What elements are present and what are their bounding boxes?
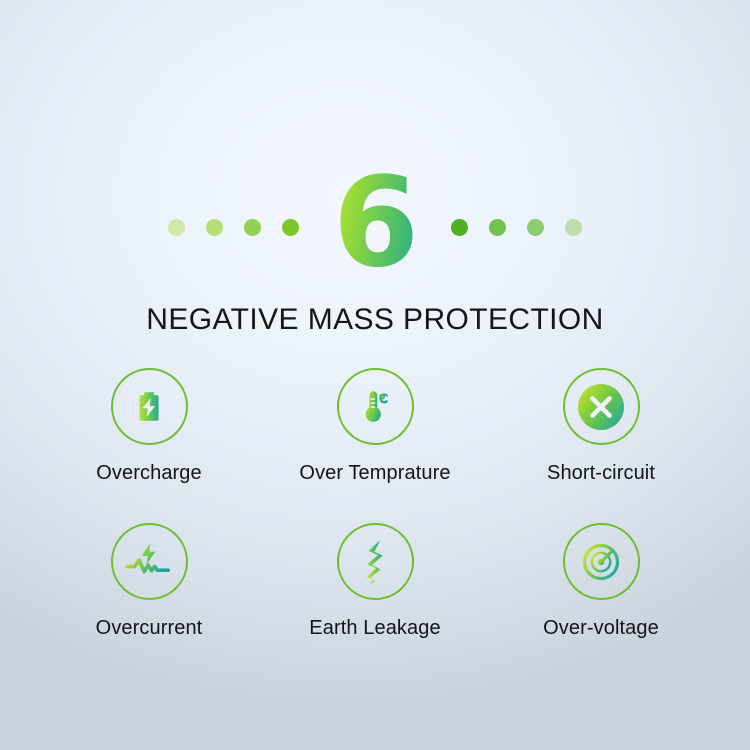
feature-over-voltage: Over-voltage <box>488 523 714 678</box>
feature-grid: Overcharge <box>36 368 714 678</box>
dot-group-right <box>451 219 582 236</box>
dot-left-2 <box>206 219 223 236</box>
dot-left-1 <box>168 219 185 236</box>
dot-group-left <box>168 219 299 236</box>
feature-label-overcurrent: Overcurrent <box>96 617 203 640</box>
feature-label-overcharge: Overcharge <box>96 462 202 485</box>
feature-over-temprature: Over Temprature <box>262 368 488 523</box>
circle-x-icon <box>575 381 627 433</box>
feature-label-over-temprature: Over Temprature <box>299 462 450 485</box>
feature-overcharge: Overcharge <box>36 368 262 523</box>
dot-left-4 <box>282 219 299 236</box>
icon-ring-short-circuit <box>563 368 640 445</box>
icon-ring-overcharge <box>111 368 188 445</box>
feature-label-earth-leakage: Earth Leakage <box>309 617 440 640</box>
feature-label-over-voltage: Over-voltage <box>543 617 659 640</box>
thermometer-icon <box>352 384 398 430</box>
icon-ring-overcurrent <box>111 523 188 600</box>
icon-ring-over-temprature <box>337 368 414 445</box>
battery-charging-icon <box>127 385 171 429</box>
gauge-meter-icon <box>580 541 622 583</box>
feature-overcurrent: Overcurrent <box>36 523 262 678</box>
page-title: NEGATIVE MASS PROTECTION <box>0 303 750 337</box>
dot-right-1 <box>451 219 468 236</box>
feature-short-circuit: Short-circuit <box>488 368 714 523</box>
feature-earth-leakage: Earth Leakage <box>262 523 488 678</box>
zigzag-crack-icon <box>355 537 395 587</box>
dot-right-2 <box>489 219 506 236</box>
hero-number-row: 6 <box>0 168 750 286</box>
feature-label-short-circuit: Short-circuit <box>547 462 655 485</box>
dot-right-4 <box>565 219 582 236</box>
waveform-bolt-icon <box>123 538 175 586</box>
protection-feature-poster: 6 NEGATIVE MASS PROTECTION <box>0 0 750 750</box>
hero-number: 6 <box>333 161 417 285</box>
icon-ring-over-voltage <box>563 523 640 600</box>
dot-right-3 <box>527 219 544 236</box>
icon-ring-earth-leakage <box>337 523 414 600</box>
dot-left-3 <box>244 219 261 236</box>
